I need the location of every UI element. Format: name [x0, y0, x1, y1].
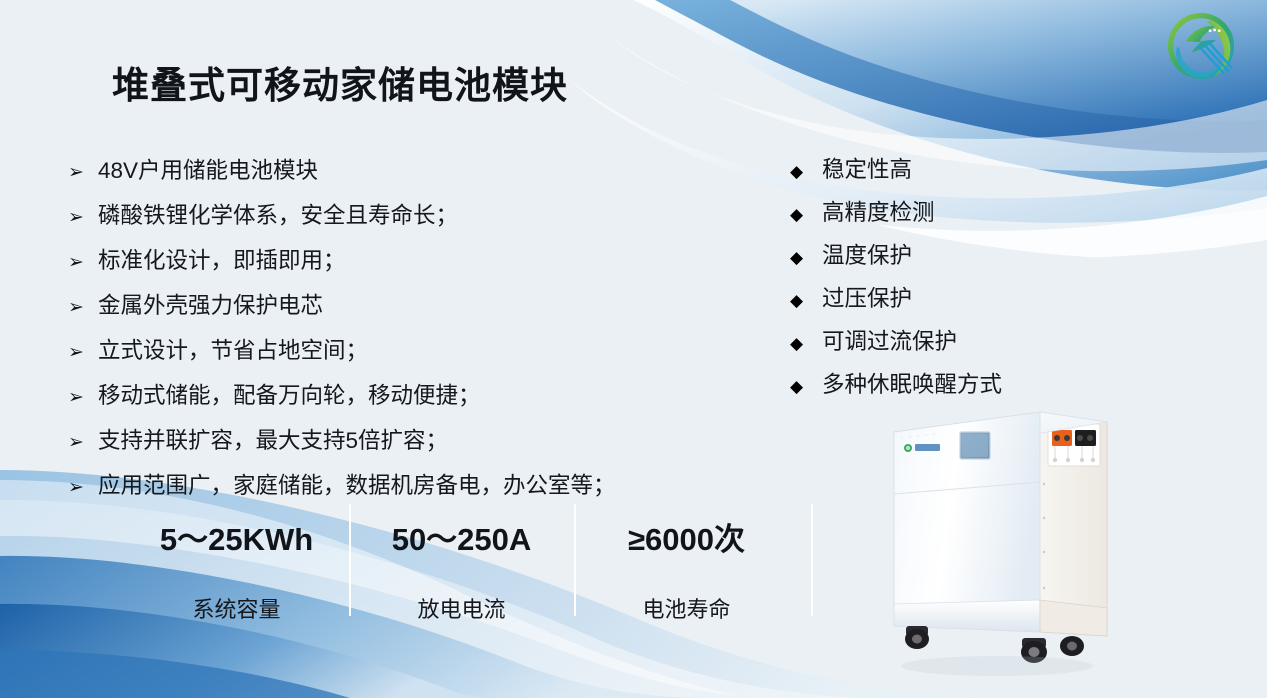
list-item: ◆ 可调过流保护 [790, 320, 1090, 363]
feature-list-left: ➢ 48V户用储能电池模块 ➢ 磷酸铁锂化学体系，安全且寿命长； ➢ 标准化设计… [68, 148, 718, 508]
list-item-label: 金属外壳强力保护电芯 [98, 283, 323, 328]
list-item-label: 标准化设计，即插即用； [98, 238, 346, 283]
feature-list-right: ◆ 稳定性高 ◆ 高精度检测 ◆ 温度保护 ◆ 过压保护 ◆ 可调过流保护 ◆ … [790, 148, 1090, 406]
diamond-bullet-icon: ◆ [790, 150, 822, 193]
stat-discharge-current: 50～250A 放电电流 [349, 500, 574, 624]
stat-cycle-life: ≥6000次 电池寿命 [574, 500, 799, 624]
list-item-label: 可调过流保护 [822, 320, 957, 363]
list-item: ➢ 金属外壳强力保护电芯 [68, 283, 718, 328]
list-item-label: 过压保护 [822, 277, 912, 320]
list-item-label: 支持并联扩容，最大支持5倍扩容； [98, 418, 448, 463]
stat-label: 系统容量 [124, 592, 349, 624]
list-item-label: 磷酸铁锂化学体系，安全且寿命长； [98, 193, 458, 238]
list-item-label: 48V户用储能电池模块 [98, 148, 318, 193]
list-item: ◆ 稳定性高 [790, 148, 1090, 191]
list-item: ◆ 过压保护 [790, 277, 1090, 320]
arrow-bullet-icon: ➢ [68, 330, 98, 375]
list-item: ◆ 温度保护 [790, 234, 1090, 277]
arrow-bullet-icon: ➢ [68, 150, 98, 195]
list-item: ➢ 48V户用储能电池模块 [68, 148, 718, 193]
list-item: ➢ 移动式储能，配备万向轮，移动便捷； [68, 373, 718, 418]
arrow-bullet-icon: ➢ [68, 285, 98, 330]
stat-divider [811, 504, 813, 616]
slide-root: 堆叠式可移动家储电池模块 ➢ 48V户用储能电池模块 ➢ 磷酸铁锂化学体系，安全… [0, 0, 1267, 698]
diamond-bullet-icon: ◆ [790, 236, 822, 279]
list-item: ➢ 磷酸铁锂化学体系，安全且寿命长； [68, 193, 718, 238]
stat-value: 5～25KWh [124, 514, 349, 559]
stat-value: ≥6000次 [574, 514, 799, 559]
spec-stats-row: 5～25KWh 系统容量 50～250A 放电电流 ≥6000次 电池寿命 [62, 500, 762, 622]
diamond-bullet-icon: ◆ [790, 322, 822, 365]
list-item: ➢ 立式设计，节省占地空间； [68, 328, 718, 373]
diamond-bullet-icon: ◆ [790, 193, 822, 236]
stat-label: 放电电流 [349, 592, 574, 624]
list-item-label: 高精度检测 [822, 191, 935, 234]
list-item: ◆ 高精度检测 [790, 191, 1090, 234]
product-image-battery-cabinet [872, 388, 1122, 688]
list-item-label: 移动式储能，配备万向轮，移动便捷； [98, 373, 481, 418]
arrow-bullet-icon: ➢ [68, 375, 98, 420]
stat-capacity: 5～25KWh 系统容量 [124, 500, 349, 624]
arrow-bullet-icon: ➢ [68, 420, 98, 465]
diamond-bullet-icon: ◆ [790, 365, 822, 408]
diamond-bullet-icon: ◆ [790, 279, 822, 322]
list-item-label: 温度保护 [822, 234, 912, 277]
list-item: ➢ 支持并联扩容，最大支持5倍扩容； [68, 418, 718, 463]
page-title: 堆叠式可移动家储电池模块 [112, 55, 568, 109]
arrow-bullet-icon: ➢ [68, 240, 98, 285]
stat-value: 50～250A [349, 514, 574, 559]
list-item-label: 立式设计，节省占地空间； [98, 328, 368, 373]
list-item: ➢ 标准化设计，即插即用； [68, 238, 718, 283]
company-logo-icon [1163, 8, 1239, 84]
list-item-label: 稳定性高 [822, 148, 912, 191]
arrow-bullet-icon: ➢ [68, 195, 98, 240]
stat-label: 电池寿命 [574, 592, 799, 624]
